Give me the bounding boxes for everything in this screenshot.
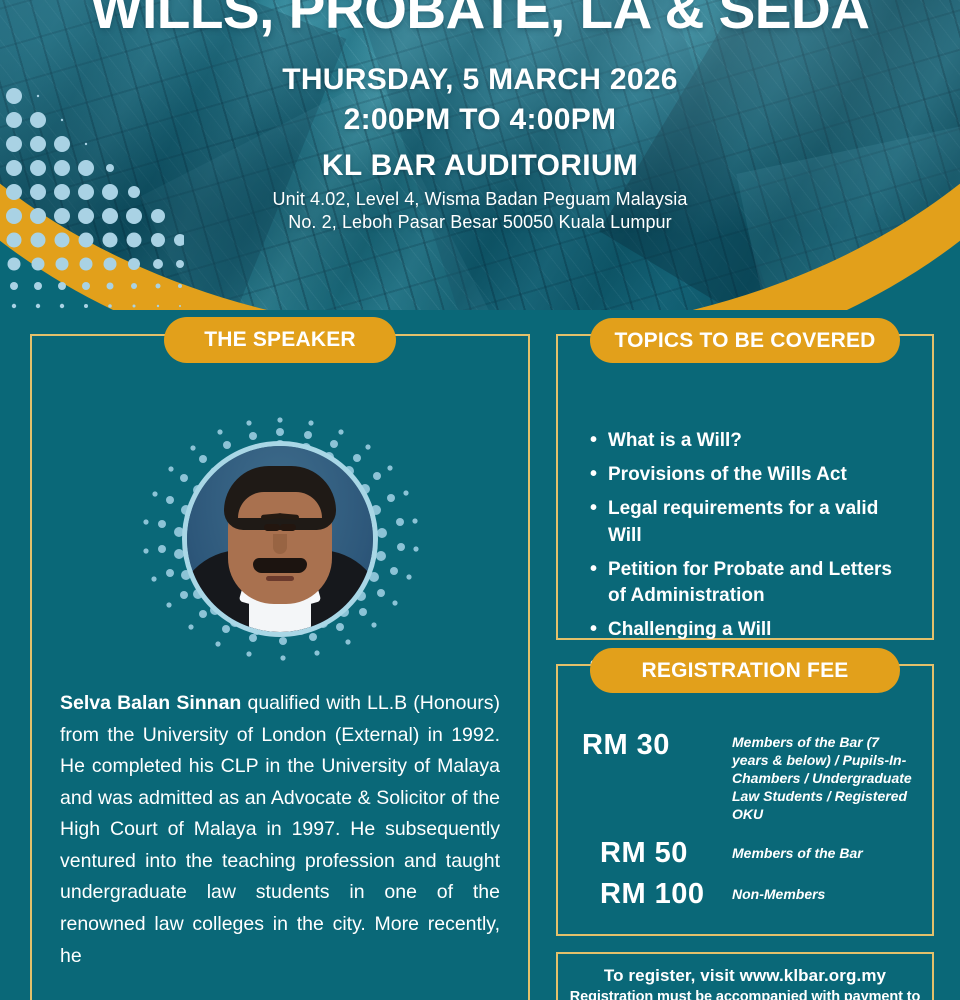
speaker-portrait [135, 414, 425, 664]
fee-description: Members of the Bar (7 years & below) / P… [732, 730, 916, 824]
list-item: Legal requirements for a valid Will [588, 496, 914, 548]
event-date: THURSDAY, 5 MARCH 2026 [0, 63, 960, 97]
speaker-heading-pill: THE SPEAKER [164, 317, 396, 363]
topics-card: TOPICS TO BE COVERED What is a Will? Pro… [556, 334, 934, 640]
fee-amount: RM 100 [582, 879, 732, 911]
registration-fee-card: REGISTRATION FEE RM 30 Members of the Ba… [556, 664, 934, 936]
speaker-card: THE SPEAKER [30, 334, 530, 1000]
fee-description: Members of the Bar [732, 845, 863, 863]
speaker-bio-text: qualified with LL.B (Honours) from the U… [60, 692, 500, 967]
event-address-line-1: Unit 4.02, Level 4, Wisma Badan Peguam M… [0, 189, 960, 210]
table-row: RM 100 Non-Members [582, 879, 916, 911]
speaker-bio: Selva Balan Sinnan qualified with LL.B (… [60, 688, 500, 972]
event-time: 2:00PM TO 4:00PM [0, 103, 960, 137]
register-payment-note: Registration must be accompanied with pa… [568, 989, 922, 1000]
list-item: Provisions of the Wills Act [588, 462, 914, 488]
fee-table: RM 30 Members of the Bar (7 years & belo… [582, 730, 916, 921]
register-url-line[interactable]: To register, visit www.klbar.org.my [568, 966, 922, 986]
register-info-text: To register, visit www.klbar.org.my Regi… [568, 966, 922, 1000]
hero-text-block: WILLS, PROBATE, LA & SEDA THURSDAY, 5 MA… [0, 0, 960, 233]
fee-heading-pill: REGISTRATION FEE [590, 648, 900, 693]
fee-description: Non-Members [732, 886, 825, 904]
list-item: What is a Will? [588, 428, 914, 454]
topics-heading-pill: TOPICS TO BE COVERED [590, 318, 900, 363]
fee-amount: RM 50 [582, 838, 732, 870]
register-info-card: To register, visit www.klbar.org.my Regi… [556, 952, 934, 1000]
table-row: RM 30 Members of the Bar (7 years & belo… [582, 730, 916, 824]
event-venue: KL BAR AUDITORIUM [0, 149, 960, 183]
hero-banner: WILLS, PROBATE, LA & SEDA THURSDAY, 5 MA… [0, 0, 960, 310]
speaker-photo [182, 441, 378, 637]
poster-title: WILLS, PROBATE, LA & SEDA [0, 0, 960, 37]
list-item: Petition for Probate and Letters of Admi… [588, 557, 914, 609]
event-address-line-2: No. 2, Leboh Pasar Besar 50050 Kuala Lum… [0, 212, 960, 233]
poster-root: WILLS, PROBATE, LA & SEDA THURSDAY, 5 MA… [0, 0, 960, 1000]
speaker-name: Selva Balan Sinnan [60, 692, 241, 714]
table-row: RM 50 Members of the Bar [582, 838, 916, 870]
list-item: Challenging a Will [588, 617, 914, 643]
fee-amount: RM 30 [582, 730, 732, 762]
